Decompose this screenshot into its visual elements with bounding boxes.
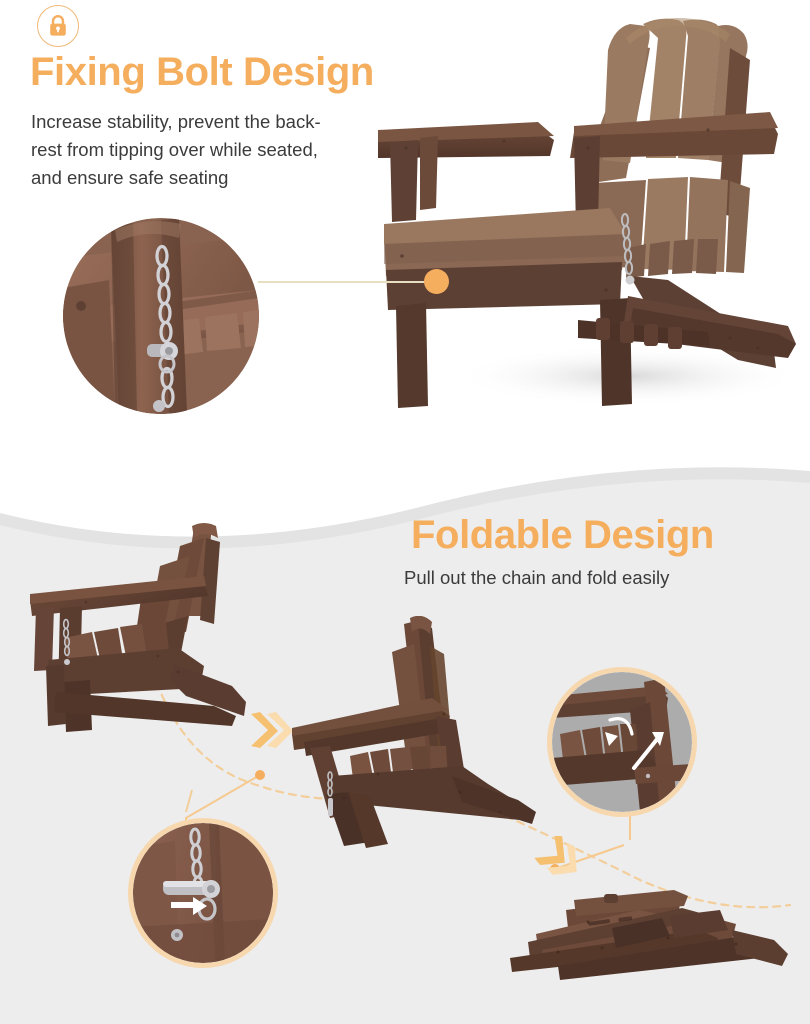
top-subtitle-line-1: Increase stability, prevent the back- [31, 108, 381, 136]
infographic-page: Fixing Bolt Design Increase stability, p… [0, 0, 810, 1024]
chain-and-bolt-closeup-inset [63, 218, 259, 414]
page-title: Fixing Bolt Design [30, 52, 374, 92]
lock-icon [37, 5, 79, 47]
top-subtitle-line-2: rest from tipping over while seated, [31, 136, 381, 164]
top-subtitle: Increase stability, prevent the back- re… [31, 108, 381, 192]
fixing-bolt-section: Fixing Bolt Design Increase stability, p… [0, 0, 810, 500]
chevron-arrow-down-right-2 [534, 836, 584, 888]
chevron-arrow-right-1 [248, 708, 294, 754]
chair-step-3-fully-folded-photo [492, 888, 792, 1008]
callout-connector-line [258, 281, 436, 283]
callout-anchor-dot [424, 269, 449, 294]
foldable-design-subtitle: Pull out the chain and fold easily [404, 565, 669, 591]
adirondack-chair-unfolded-photo [378, 8, 808, 438]
foldable-design-title: Foldable Design [411, 515, 714, 555]
chair-step-2-partially-folded-photo [292, 616, 542, 851]
chair-step-1-unfolded-photo [8, 520, 278, 745]
seat-fold-arrows-closeup-inset [547, 667, 697, 817]
top-subtitle-line-3: and ensure safe seating [31, 164, 381, 192]
chain-pin-release-closeup-inset [128, 818, 278, 968]
